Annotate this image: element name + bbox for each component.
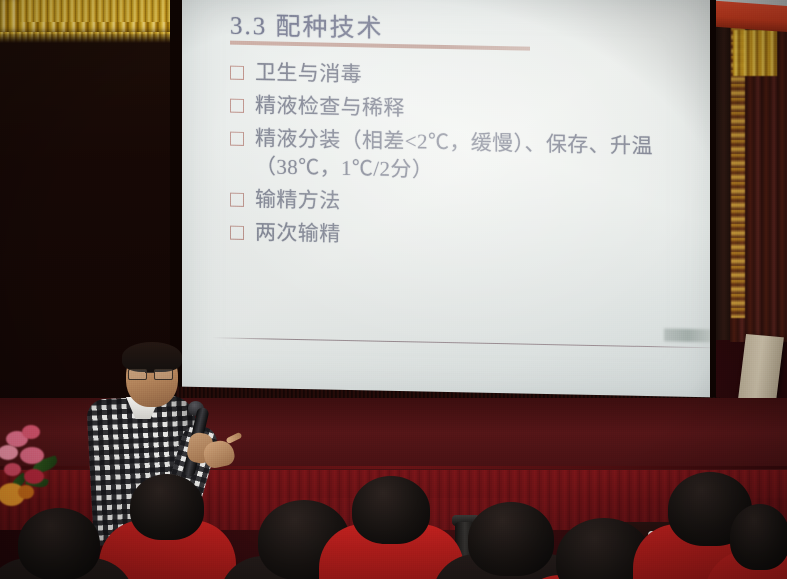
- glasses-icon: [128, 369, 174, 378]
- curtain-gold-fringe-top: [733, 30, 777, 76]
- glasses-left-lens: [128, 369, 147, 380]
- audience-head: [730, 504, 787, 570]
- slide-watermark: [664, 328, 710, 342]
- audience-head: [352, 476, 430, 544]
- projection-screen: 3.3 配种技术 卫生与消毒 精液检查与稀释 精液分装（相差<2℃，缓慢）、保存…: [182, 0, 710, 403]
- hollow-square-bullet-icon: [230, 66, 244, 80]
- hollow-square-bullet-icon: [230, 99, 244, 113]
- flower-petal: [22, 425, 40, 439]
- hollow-square-bullet-icon: [230, 193, 244, 207]
- audience-head: [468, 502, 554, 576]
- glasses-right-lens: [154, 369, 173, 380]
- hollow-square-bullet-icon: [230, 226, 244, 240]
- slide-bullet-text: 卫生与消毒: [255, 58, 362, 88]
- presenter-hair: [122, 342, 182, 372]
- slide-bullet-text: 输精方法: [255, 185, 341, 215]
- curtain-valance-left: [0, 0, 176, 34]
- slide-bullet-text: 两次输精: [255, 218, 341, 248]
- valance-fringe-strip: [20, 0, 170, 22]
- slide-bullet-item: 精液检查与稀释: [230, 91, 690, 128]
- flower-petal: [0, 445, 18, 460]
- slide-title: 3.3 配种技术: [230, 6, 384, 45]
- glasses-bridge: [145, 372, 154, 373]
- slide-bullet-item: 精液分装（相差<2℃，缓慢）、保存、升温（38℃，1℃/2分）: [230, 124, 690, 189]
- audience-head: [130, 474, 204, 540]
- slide-bullet-list: 卫生与消毒 精液检查与稀释 精液分装（相差<2℃，缓慢）、保存、升温（38℃，1…: [230, 58, 690, 260]
- slide-bullet-text: 精液检查与稀释: [255, 91, 405, 122]
- slide-footer-rule: [212, 337, 710, 348]
- audience: [0, 462, 787, 579]
- slide-bullet-item: 卫生与消毒: [230, 58, 690, 95]
- slide-bullet-item: 输精方法: [230, 185, 690, 222]
- slide-bullet-item: 两次输精: [230, 218, 690, 255]
- audience-head: [18, 508, 100, 579]
- hollow-square-bullet-icon: [230, 132, 244, 146]
- presenter-finger: [225, 432, 242, 444]
- slide-content: 3.3 配种技术 卫生与消毒 精液检查与稀释 精液分装（相差<2℃，缓慢）、保存…: [182, 0, 710, 403]
- slide-bullet-text: 精液分装（相差<2℃，缓慢）、保存、升温（38℃，1℃/2分）: [255, 124, 675, 188]
- photo-scene: 3.3 配种技术 卫生与消毒 精液检查与稀释 精液分装（相差<2℃，缓慢）、保存…: [0, 0, 787, 579]
